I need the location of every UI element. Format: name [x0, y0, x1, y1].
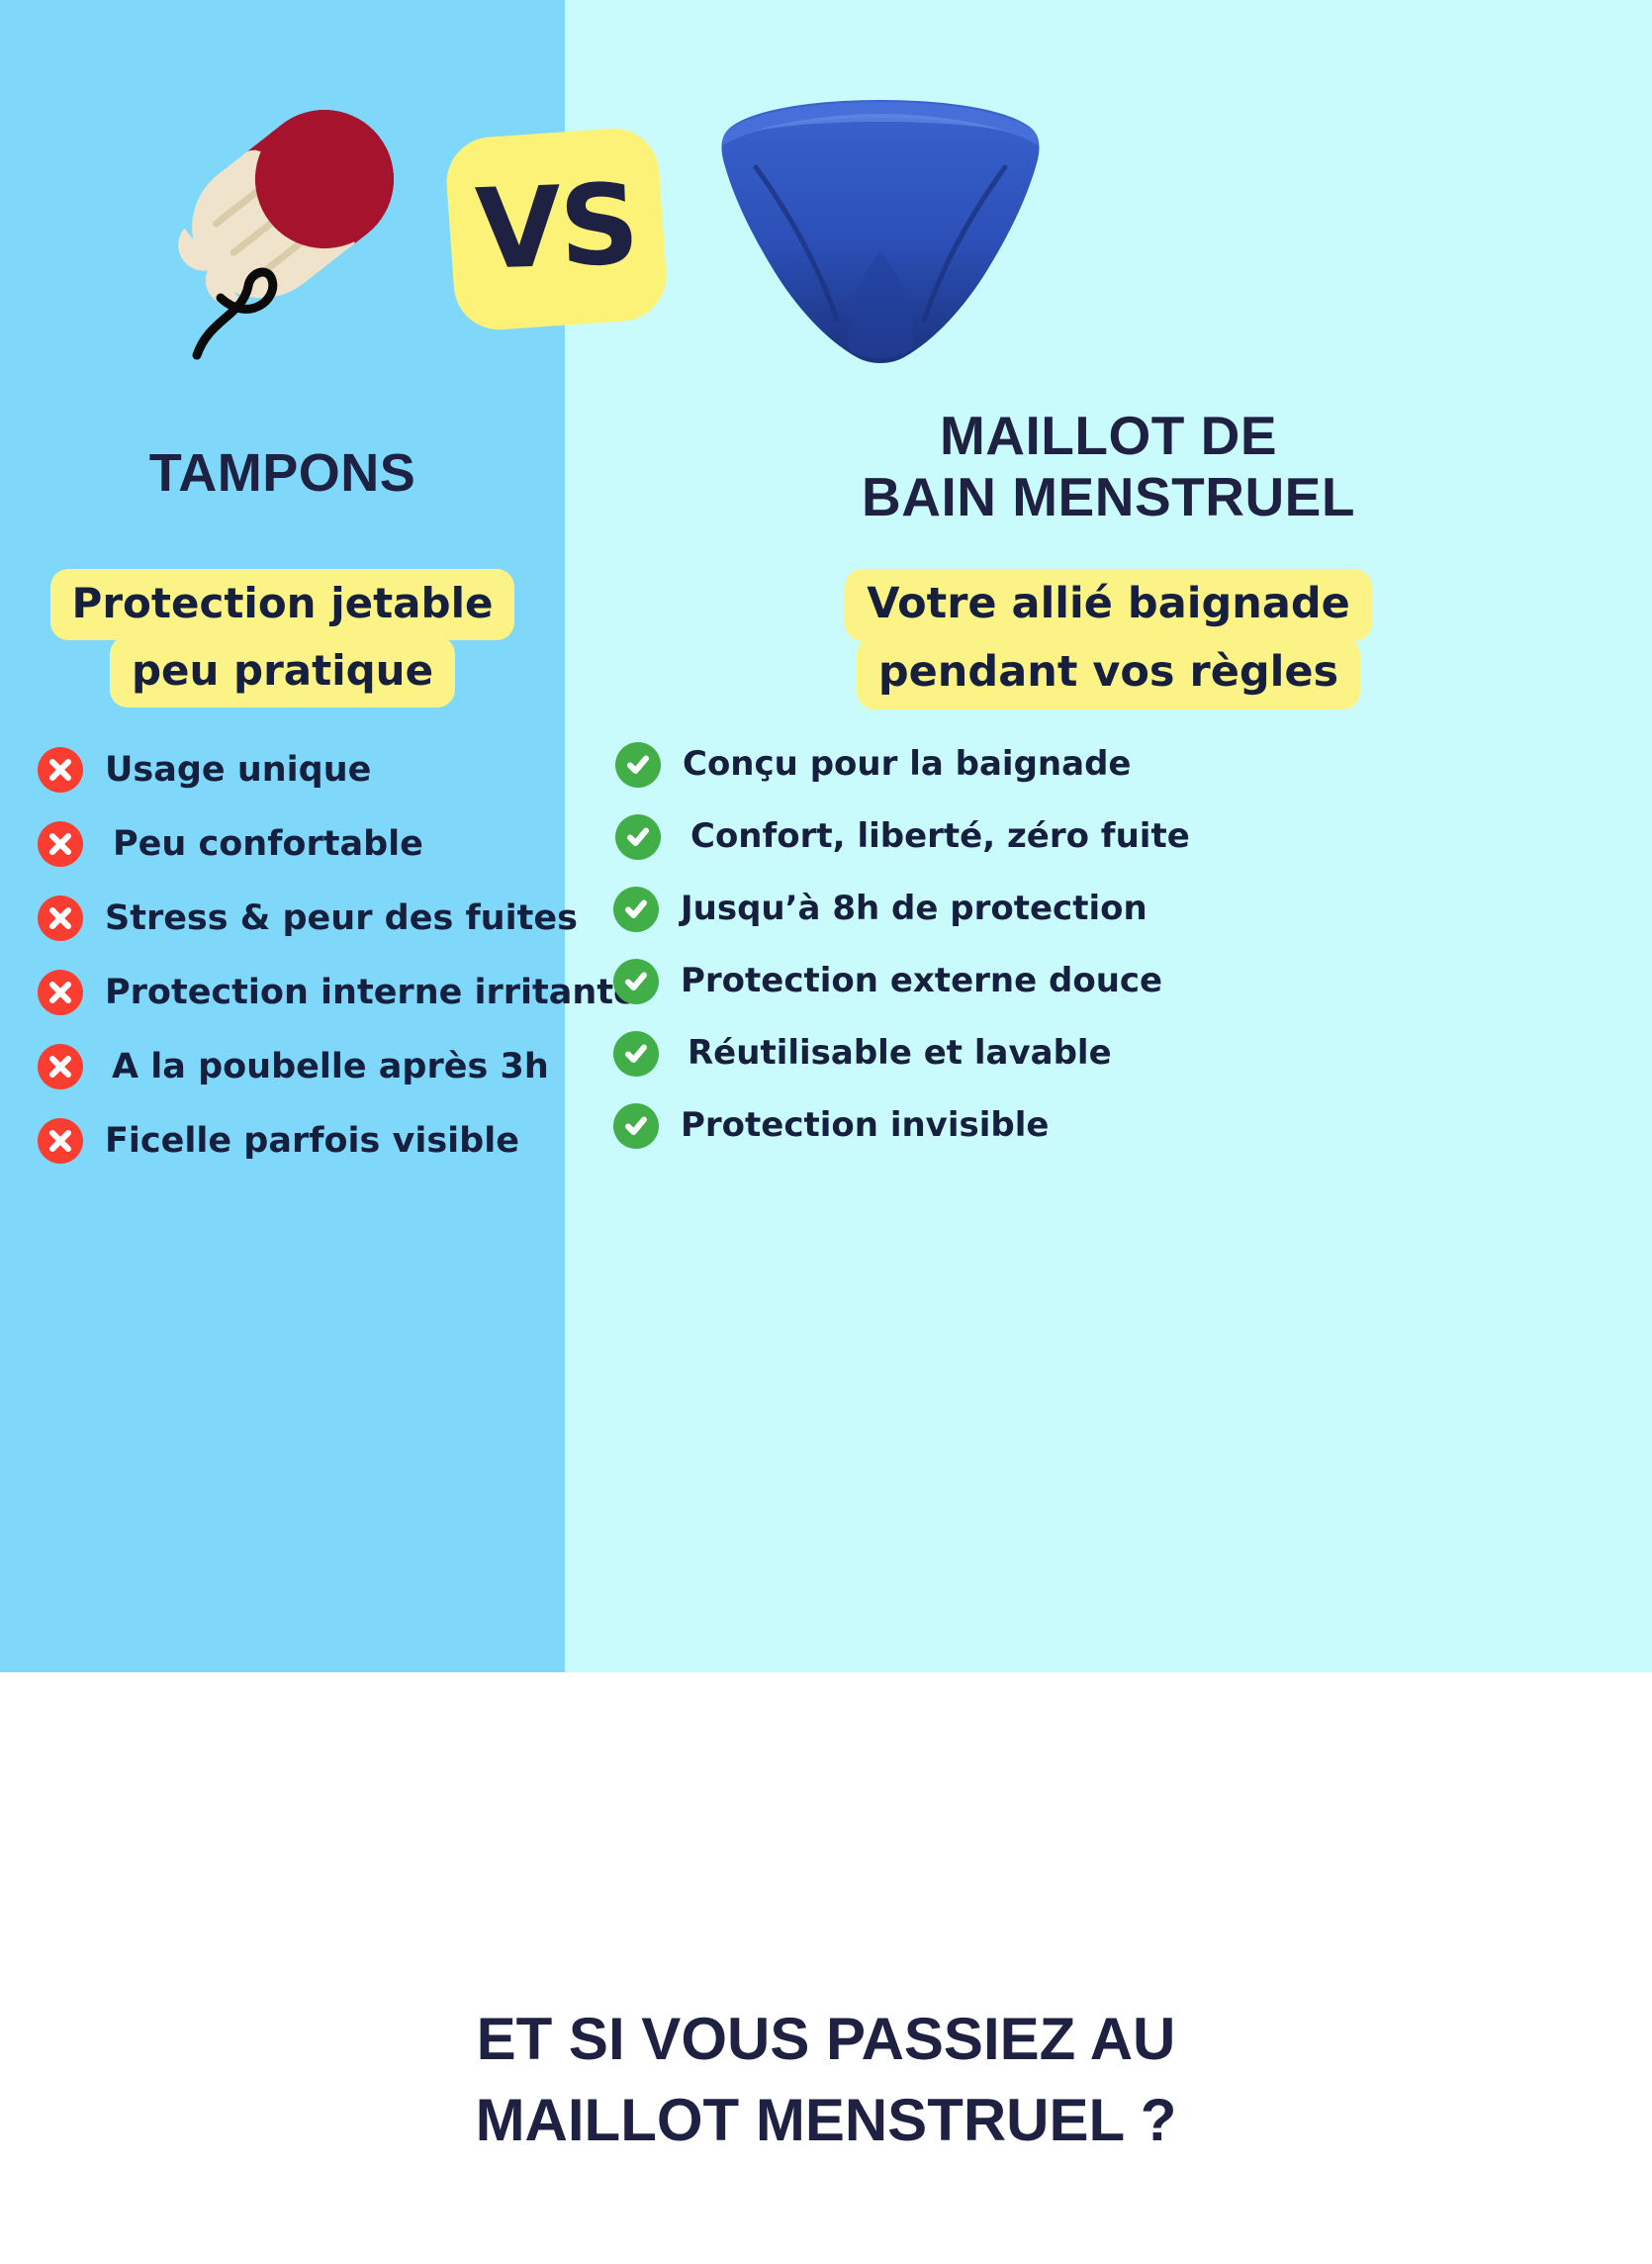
infographic-canvas: VS	[0, 0, 1652, 2264]
menstrual-swimwear-icon	[692, 94, 1068, 376]
right-column-title-line-1: MAILLOT DE	[940, 405, 1277, 466]
list-item-label: A la poubelle après 3h	[112, 1048, 549, 1086]
cta-line-2: MAILLOT MENSTRUEL ?	[0, 2080, 1652, 2161]
left-subtitle: Protection jetable peu pratique	[0, 569, 565, 704]
list-item: Stress & peur des fuites	[38, 896, 577, 941]
cross-circle-icon	[38, 1044, 83, 1089]
list-item: Usage unique	[38, 747, 577, 793]
cross-circle-icon	[38, 821, 83, 867]
list-item: Réutilisable et lavable	[605, 1031, 1644, 1077]
list-item-label: Protection externe douce	[681, 963, 1162, 999]
list-item-label: Peu confortable	[113, 825, 423, 864]
list-item-label: Protection invisible	[681, 1107, 1049, 1144]
cross-circle-icon	[38, 747, 83, 793]
list-item-label: Stress & peur des fuites	[105, 899, 578, 938]
left-subtitle-line-1: Protection jetable	[50, 569, 515, 640]
check-circle-icon	[613, 1031, 659, 1077]
list-item-label: Confort, liberté, zéro fuite	[690, 818, 1190, 855]
vs-label: VS	[474, 169, 639, 286]
right-subtitle-line-2: pendant vos règles	[857, 637, 1360, 709]
list-item-label: Réutilisable et lavable	[688, 1035, 1112, 1072]
list-item: Ficelle parfois visible	[38, 1118, 577, 1164]
list-item: Peu confortable	[38, 821, 577, 867]
check-circle-icon	[613, 887, 659, 932]
list-item-label: Ficelle parfois visible	[105, 1122, 519, 1161]
right-column-title-line-2: BAIN MENSTRUEL	[862, 466, 1355, 527]
check-circle-icon	[615, 814, 661, 860]
tampon-icon	[94, 74, 430, 361]
left-subtitle-line-2: peu pratique	[110, 636, 455, 707]
list-item: Protection interne irritante	[38, 970, 577, 1015]
cross-circle-icon	[38, 896, 83, 941]
list-item-label: Conçu pour la baignade	[683, 746, 1131, 783]
left-column-title: TAMPONS	[0, 443, 565, 503]
check-circle-icon	[613, 1103, 659, 1149]
bottom-curve-mask	[0, 1672, 1652, 1989]
check-circle-icon	[615, 742, 661, 788]
list-item: Protection externe douce	[605, 959, 1644, 1004]
cta-line-1: ET SI VOUS PASSIEZ AU	[0, 1999, 1652, 2080]
check-circle-icon	[613, 959, 659, 1004]
list-item: A la poubelle après 3h	[38, 1044, 577, 1089]
list-item-label: Usage unique	[105, 751, 371, 790]
list-item: Conçu pour la baignade	[605, 742, 1644, 788]
cross-circle-icon	[38, 970, 83, 1015]
right-subtitle: Votre allié baignade pendant vos règles	[565, 569, 1652, 706]
list-item: Confort, liberté, zéro fuite	[605, 814, 1644, 860]
left-feature-list: Usage unique Peu confortable Stress & pe…	[38, 747, 577, 1192]
right-subtitle-line-1: Votre allié baignade	[845, 569, 1372, 641]
right-feature-list: Conçu pour la baignade Confort, liberté,…	[605, 742, 1644, 1176]
list-item: Jusqu’à 8h de protection	[605, 887, 1644, 932]
right-column-title: MAILLOT DE BAIN MENSTRUEL	[565, 406, 1652, 527]
list-item-label: Protection interne irritante	[105, 974, 637, 1012]
cta-text: ET SI VOUS PASSIEZ AU MAILLOT MENSTRUEL …	[0, 1999, 1652, 2160]
list-item-label: Jusqu’à 8h de protection	[681, 891, 1147, 927]
cross-circle-icon	[38, 1118, 83, 1164]
vs-badge: VS	[443, 126, 669, 333]
list-item: Protection invisible	[605, 1103, 1644, 1149]
